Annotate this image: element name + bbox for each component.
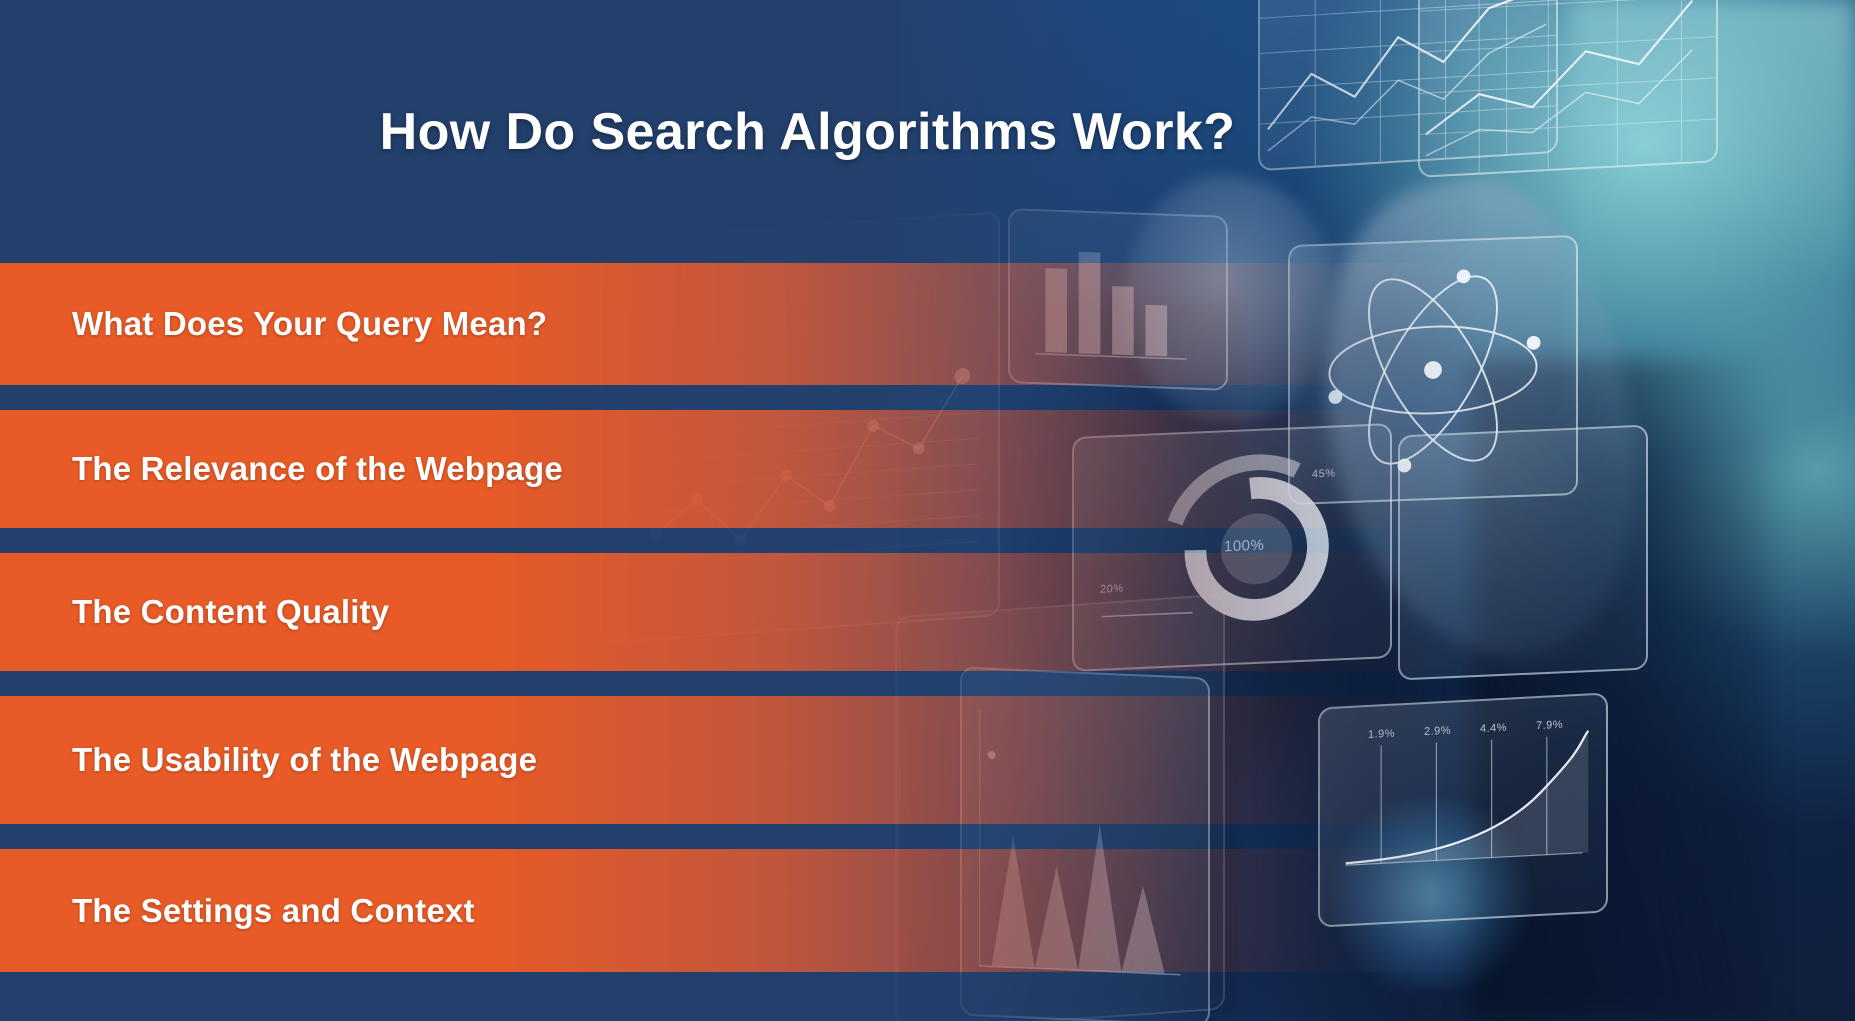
list-item-4[interactable]: The Usability of the Webpage <box>0 696 1855 824</box>
list-item-label: The Relevance of the Webpage <box>72 450 563 488</box>
list-item-label: The Usability of the Webpage <box>72 741 537 779</box>
footer-band <box>0 972 1855 1021</box>
list-item-3[interactable]: The Content Quality <box>0 553 1855 671</box>
divider-4 <box>0 824 1855 849</box>
divider-1 <box>0 385 1855 410</box>
list-item-1[interactable]: What Does Your Query Mean? <box>0 263 1855 385</box>
list-item-label: The Content Quality <box>72 593 389 631</box>
list-item-5[interactable]: The Settings and Context <box>0 849 1855 972</box>
line-chart-icon <box>1420 0 1716 176</box>
infographic-root: 20% 100% 45% <box>0 0 1855 1021</box>
list-item-2[interactable]: The Relevance of the Webpage <box>0 410 1855 528</box>
list-item-label: The Settings and Context <box>72 892 475 930</box>
list-item-label: What Does Your Query Mean? <box>72 305 547 343</box>
line-chart-panel-b <box>1418 0 1718 178</box>
divider-3 <box>0 671 1855 696</box>
divider-2 <box>0 528 1855 553</box>
